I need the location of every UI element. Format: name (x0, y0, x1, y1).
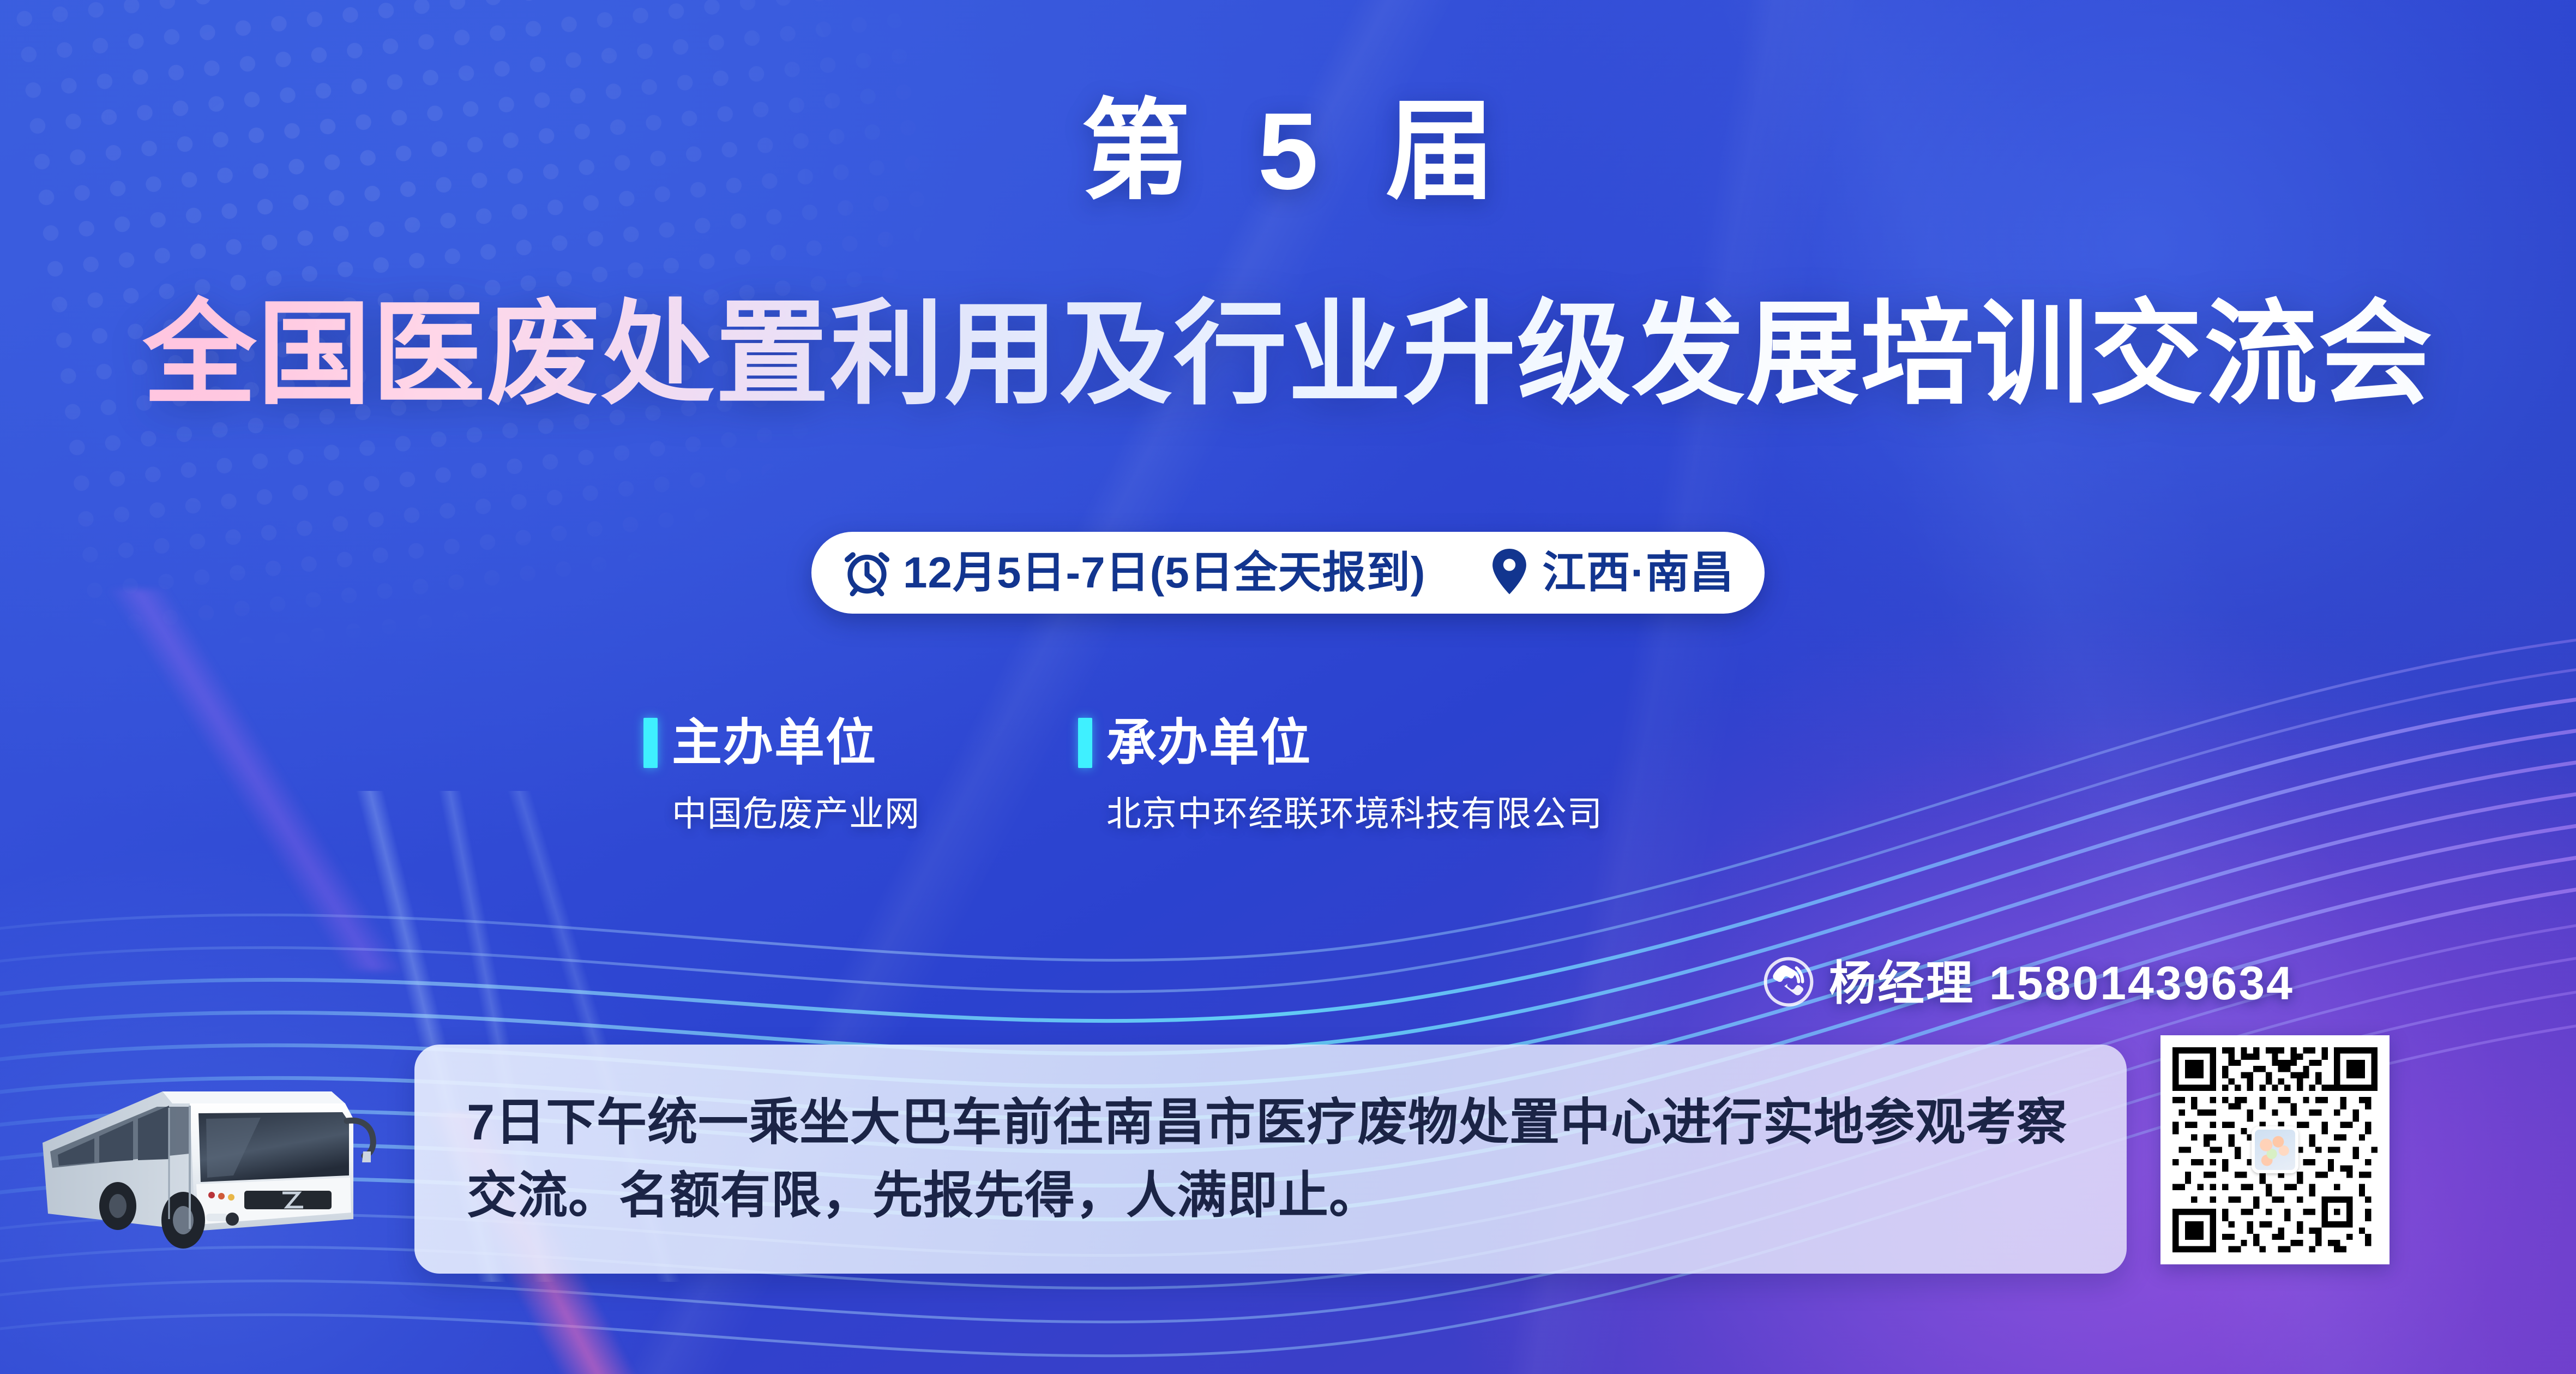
qr-center-avatar (2252, 1126, 2298, 1173)
edition-title: 第 5 届 (0, 97, 2576, 206)
co-organizer-name: 北京中环经联环境科技有限公司 (1106, 796, 1603, 831)
location-pin-icon (1488, 547, 1531, 599)
wechat-qr-code[interactable] (2160, 1035, 2390, 1264)
host-organizer-title: 主办单位 (672, 718, 877, 768)
host-organizer-header: 主办单位 (643, 718, 920, 768)
organizers-section: 主办单位 中国危废产业网 承办单位 北京中环经联环境科技有限公司 (643, 718, 1603, 831)
co-organizer-header: 承办单位 (1078, 718, 1603, 768)
contact-text: 杨经理 15801439634 (1829, 960, 2294, 1007)
coach-bus-illustration (26, 1039, 408, 1268)
note-text: 7日下午统一乘坐大巴车前往南昌市医疗废物处置中心进行实地参观考察交流。名额有限，… (467, 1086, 2074, 1233)
date-group: 12月5日-7日(5日全天报到) (842, 547, 1425, 599)
location-text: 江西·南昌 (1542, 551, 1734, 595)
host-organizer-name: 中国危废产业网 (672, 796, 920, 831)
cyan-accent-bar (643, 718, 658, 768)
conference-banner: 第 5 届 全国医废处置利用及行业升级发展培训交流会 12月5日-7日(5日全天… (0, 0, 2576, 1374)
location-group: 江西·南昌 (1488, 547, 1734, 599)
main-headline: 全国医废处置利用及行业升级发展培训交流会 (0, 288, 2576, 422)
alarm-clock-icon (842, 547, 892, 599)
cyan-accent-bar (1078, 718, 1092, 768)
date-text: 12月5日-7日(5日全天报到) (903, 551, 1425, 595)
contact-info[interactable]: 杨经理 15801439634 (1762, 956, 2294, 1011)
host-organizer: 主办单位 中国危废产业网 (643, 718, 920, 831)
co-organizer-title: 承办单位 (1106, 718, 1311, 768)
telephone-icon (1762, 956, 1815, 1011)
co-organizer: 承办单位 北京中环经联环境科技有限公司 (1078, 718, 1603, 831)
date-location-pill: 12月5日-7日(5日全天报到) 江西·南昌 (811, 532, 1765, 614)
note-panel: 7日下午统一乘坐大巴车前往南昌市医疗废物处置中心进行实地参观考察交流。名额有限，… (414, 1045, 2127, 1274)
